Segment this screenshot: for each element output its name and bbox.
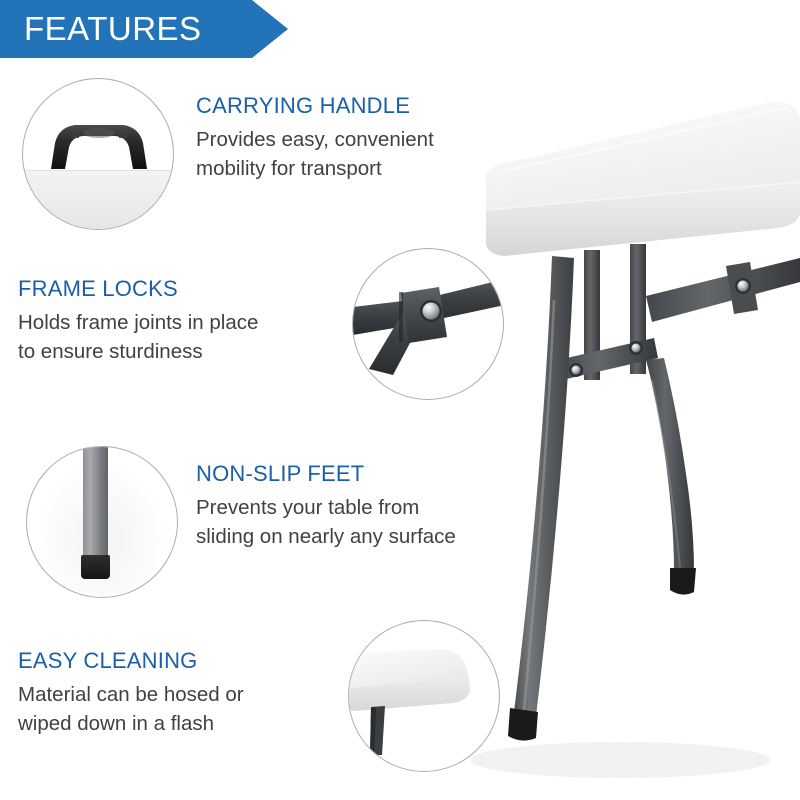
feature-title-non-slip-feet: NON-SLIP FEET — [196, 461, 364, 487]
table-leg-shape — [83, 446, 108, 559]
product-photo — [440, 60, 800, 800]
feature-description-easy-cleaning: Material can be hosed or wiped down in a… — [18, 680, 328, 738]
feature-title-frame-locks: FRAME LOCKS — [18, 276, 178, 302]
feature-infographic: FEATURES CARRYING HANDLE Provides easy, … — [0, 0, 800, 800]
carrying-handle-icon — [22, 78, 174, 230]
feature-title-easy-cleaning: EASY CLEANING — [18, 648, 197, 674]
feature-description-frame-locks: Holds frame joints in place to ensure st… — [18, 308, 338, 366]
feature-title-carrying-handle: CARRYING HANDLE — [196, 93, 410, 119]
table-surface-shape — [22, 170, 174, 229]
folding-table-illustration — [440, 60, 800, 800]
handle-glyph — [49, 121, 149, 169]
features-banner-label: FEATURES — [24, 9, 202, 49]
non-slip-foot-icon — [26, 446, 178, 598]
rubber-foot-cap-shape — [81, 555, 110, 579]
